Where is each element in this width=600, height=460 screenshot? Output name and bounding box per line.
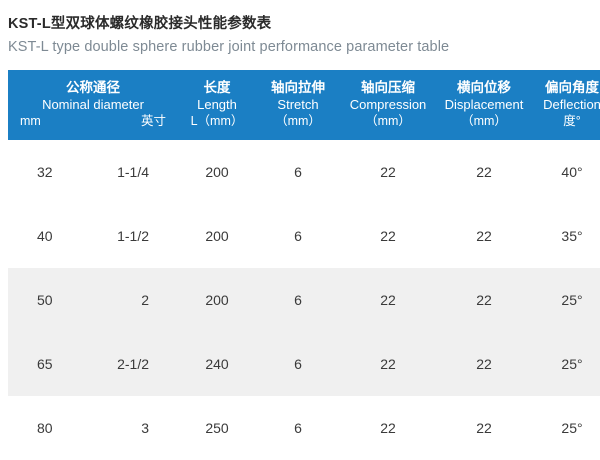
table-header: 公称通径 Nominal diameter mm 英寸 长度 Length L（… xyxy=(8,70,600,140)
cell-displacement: 22 xyxy=(436,332,532,396)
header-deflection-unit: 度° xyxy=(563,113,581,130)
cell-dn-mm: 321-1/4 xyxy=(8,140,178,204)
header-length-unit: L（mm） xyxy=(191,113,244,130)
cell-length: 200 xyxy=(178,204,256,268)
cell-stretch: 6 xyxy=(256,396,340,460)
header-nominal-diameter-unit-inch: 英寸 xyxy=(141,113,166,130)
cell-dn-inch-value: 2 xyxy=(141,292,149,308)
cell-stretch: 6 xyxy=(256,268,340,332)
header-nominal-diameter-en: Nominal diameter xyxy=(42,96,144,113)
cell-deflection: 35° xyxy=(532,204,600,268)
header-deflection-cn: 偏向角度 xyxy=(545,79,599,96)
table-body: 321-1/4 200 6 22 22 40° 401-1/2 200 6 22… xyxy=(8,140,600,460)
cell-compression: 22 xyxy=(340,268,436,332)
header-deflection-en: Deflection xyxy=(543,96,600,113)
cell-dn-inch-value: 3 xyxy=(141,420,149,436)
cell-length: 200 xyxy=(178,268,256,332)
cell-dn-mm-value: 40 xyxy=(37,228,53,244)
header-length-en: Length xyxy=(197,96,237,113)
cell-deflection: 25° xyxy=(532,396,600,460)
cell-displacement: 22 xyxy=(436,204,532,268)
header-compression-unit: （mm） xyxy=(365,113,411,130)
header-length: 长度 Length L（mm） xyxy=(178,70,256,140)
cell-dn-mm-value: 80 xyxy=(37,420,53,436)
cell-displacement: 22 xyxy=(436,268,532,332)
header-compression-cn: 轴向压缩 xyxy=(361,79,415,96)
cell-dn-inch-value: 2-1/2 xyxy=(117,356,149,372)
table-row: 321-1/4 200 6 22 22 40° xyxy=(8,140,600,204)
cell-length: 250 xyxy=(178,396,256,460)
cell-dn-mm: 803 xyxy=(8,396,178,460)
cell-deflection: 25° xyxy=(532,268,600,332)
cell-compression: 22 xyxy=(340,332,436,396)
header-deflection: 偏向角度 Deflection 度° xyxy=(532,70,600,140)
header-stretch-unit: （mm） xyxy=(275,113,321,130)
header-nominal-diameter-cn: 公称通径 xyxy=(66,79,120,96)
cell-dn-mm-value: 65 xyxy=(37,356,53,372)
cell-stretch: 6 xyxy=(256,204,340,268)
page-title-cn: KST-L型双球体螺纹橡胶接头性能参数表 xyxy=(8,14,600,34)
header-stretch: 轴向拉伸 Stretch （mm） xyxy=(256,70,340,140)
header-stretch-cn: 轴向拉伸 xyxy=(271,79,325,96)
page-title-en: KST-L type double sphere rubber joint pe… xyxy=(8,36,600,58)
table-row: 401-1/2 200 6 22 22 35° xyxy=(8,204,600,268)
header-nominal-diameter-unit-mm: mm xyxy=(20,113,41,130)
cell-stretch: 6 xyxy=(256,140,340,204)
header-displacement: 横向位移 Displacement （mm） xyxy=(436,70,532,140)
table-row: 803 250 6 22 22 25° xyxy=(8,396,600,460)
cell-dn-mm: 502 xyxy=(8,268,178,332)
cell-displacement: 22 xyxy=(436,140,532,204)
spec-table: 公称通径 Nominal diameter mm 英寸 长度 Length L（… xyxy=(8,70,600,460)
cell-compression: 22 xyxy=(340,140,436,204)
header-displacement-cn: 横向位移 xyxy=(457,79,511,96)
header-displacement-en: Displacement xyxy=(445,96,524,113)
cell-stretch: 6 xyxy=(256,332,340,396)
page: KST-L型双球体螺纹橡胶接头性能参数表 KST-L type double s… xyxy=(0,0,600,436)
header-row: 公称通径 Nominal diameter mm 英寸 长度 Length L（… xyxy=(8,70,600,140)
cell-dn-mm: 401-1/2 xyxy=(8,204,178,268)
cell-compression: 22 xyxy=(340,396,436,460)
cell-deflection: 40° xyxy=(532,140,600,204)
cell-displacement: 22 xyxy=(436,396,532,460)
cell-length: 200 xyxy=(178,140,256,204)
header-nominal-diameter: 公称通径 Nominal diameter mm 英寸 xyxy=(8,70,178,140)
cell-dn-mm-value: 50 xyxy=(37,292,53,308)
cell-compression: 22 xyxy=(340,204,436,268)
cell-deflection: 25° xyxy=(532,332,600,396)
header-compression-en: Compression xyxy=(350,96,427,113)
table-row: 502 200 6 22 22 25° xyxy=(8,268,600,332)
cell-dn-mm: 652-1/2 xyxy=(8,332,178,396)
title-block: KST-L型双球体螺纹橡胶接头性能参数表 KST-L type double s… xyxy=(0,0,600,58)
cell-dn-mm-value: 32 xyxy=(37,164,53,180)
header-stretch-en: Stretch xyxy=(277,96,318,113)
cell-length: 240 xyxy=(178,332,256,396)
table-row: 652-1/2 240 6 22 22 25° xyxy=(8,332,600,396)
header-compression: 轴向压缩 Compression （mm） xyxy=(340,70,436,140)
cell-dn-inch-value: 1-1/2 xyxy=(117,228,149,244)
cell-dn-inch-value: 1-1/4 xyxy=(117,164,149,180)
header-length-cn: 长度 xyxy=(204,79,231,96)
header-displacement-unit: （mm） xyxy=(461,113,507,130)
